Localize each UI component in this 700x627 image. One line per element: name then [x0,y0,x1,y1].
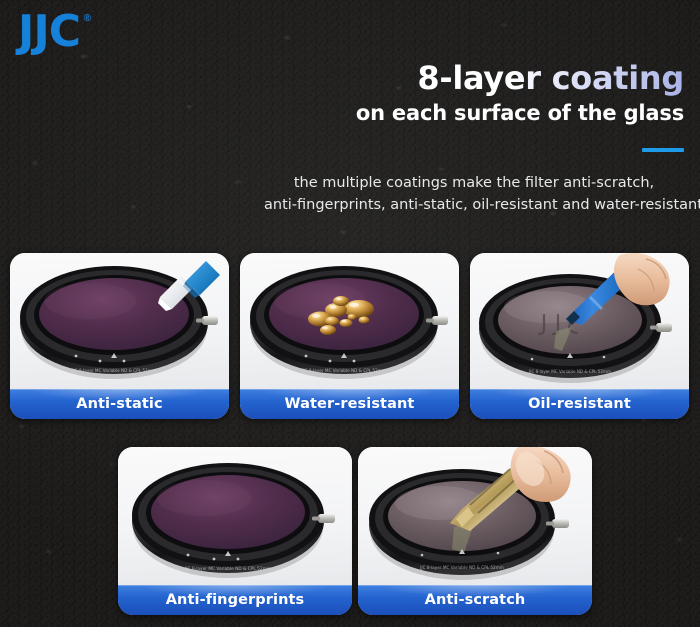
card-label-anti-fingerprints: Anti-fingerprints [118,585,352,615]
product-photo-anti-fingerprints: JJC 8-layer MC Variable ND & CPL 52mm [118,447,352,585]
filter-with-droplets-illustration: JJC 8-layer MC Variable ND & CPL 52mm [240,253,459,389]
feature-card-anti-static[interactable]: JJC 8-layer MC Variable ND & CPL 52mm An… [10,253,229,419]
card-label-water-resistant: Water-resistant [240,389,459,419]
product-photo-anti-scratch: JJC 8-layer MC Variable ND & CPL 52mm [358,447,592,585]
description-line-2: anti-fingerprints, anti-static, oil-resi… [264,194,684,216]
brand-logo: JJC ® [18,10,80,54]
feature-card-anti-fingerprints[interactable]: JJC 8-layer MC Variable ND & CPL 52mm An… [118,447,352,615]
card-label-oil-resistant: Oil-resistant [470,389,689,419]
trademark-icon: ® [84,14,91,24]
clean-filter-illustration: JJC 8-layer MC Variable ND & CPL 52mm [118,447,352,585]
filter-with-dropper-illustration: JJC 8-layer MC Variable ND & CPL 52mm [10,253,229,389]
brand-logo-text: JJC [18,10,80,54]
page-subtitle: on each surface of the glass [356,101,684,125]
page-title: 8-layer coating [356,62,684,96]
filter-with-key-illustration: JJC 8-layer MC Variable ND & CPL 52mm [358,447,592,585]
ring-engraving-text: JJC 8-layer MC Variable ND & CPL 52mm [528,369,611,374]
feature-card-oil-resistant[interactable]: JJC 8-layer MC Variable ND & CPL 52mm [470,253,689,419]
feature-card-water-resistant[interactable]: JJC 8-layer MC Variable ND & CPL 52mm Wa… [240,253,459,419]
description-line-1: the multiple coatings make the filter an… [264,172,684,194]
description-text: the multiple coatings make the filter an… [264,172,684,217]
card-label-anti-static: Anti-static [10,389,229,419]
feature-card-anti-scratch[interactable]: JJC 8-layer MC Variable ND & CPL 52mm [358,447,592,615]
product-photo-water-resistant: JJC 8-layer MC Variable ND & CPL 52mm [240,253,459,389]
ring-engraving-text: JJC 8-layer MC Variable ND & CPL 52mm [71,368,156,373]
ring-engraving-text: JJC 8-layer MC Variable ND & CPL 52mm [301,368,386,373]
product-photo-anti-static: JJC 8-layer MC Variable ND & CPL 52mm [10,253,229,389]
ring-engraving-text: JJC 8-layer MC Variable ND & CPL 52mm [419,565,504,570]
marketing-banner: JJC ® 8-layer coating on each surface of… [0,0,700,627]
filter-with-marker-illustration: JJC 8-layer MC Variable ND & CPL 52mm [470,253,689,389]
headline-block: 8-layer coating on each surface of the g… [356,62,684,125]
ring-engraving-text: JJC 8-layer MC Variable ND & CPL 52mm [184,566,271,572]
product-photo-oil-resistant: JJC 8-layer MC Variable ND & CPL 52mm [470,253,689,389]
card-label-anti-scratch: Anti-scratch [358,585,592,615]
accent-divider [642,148,684,152]
